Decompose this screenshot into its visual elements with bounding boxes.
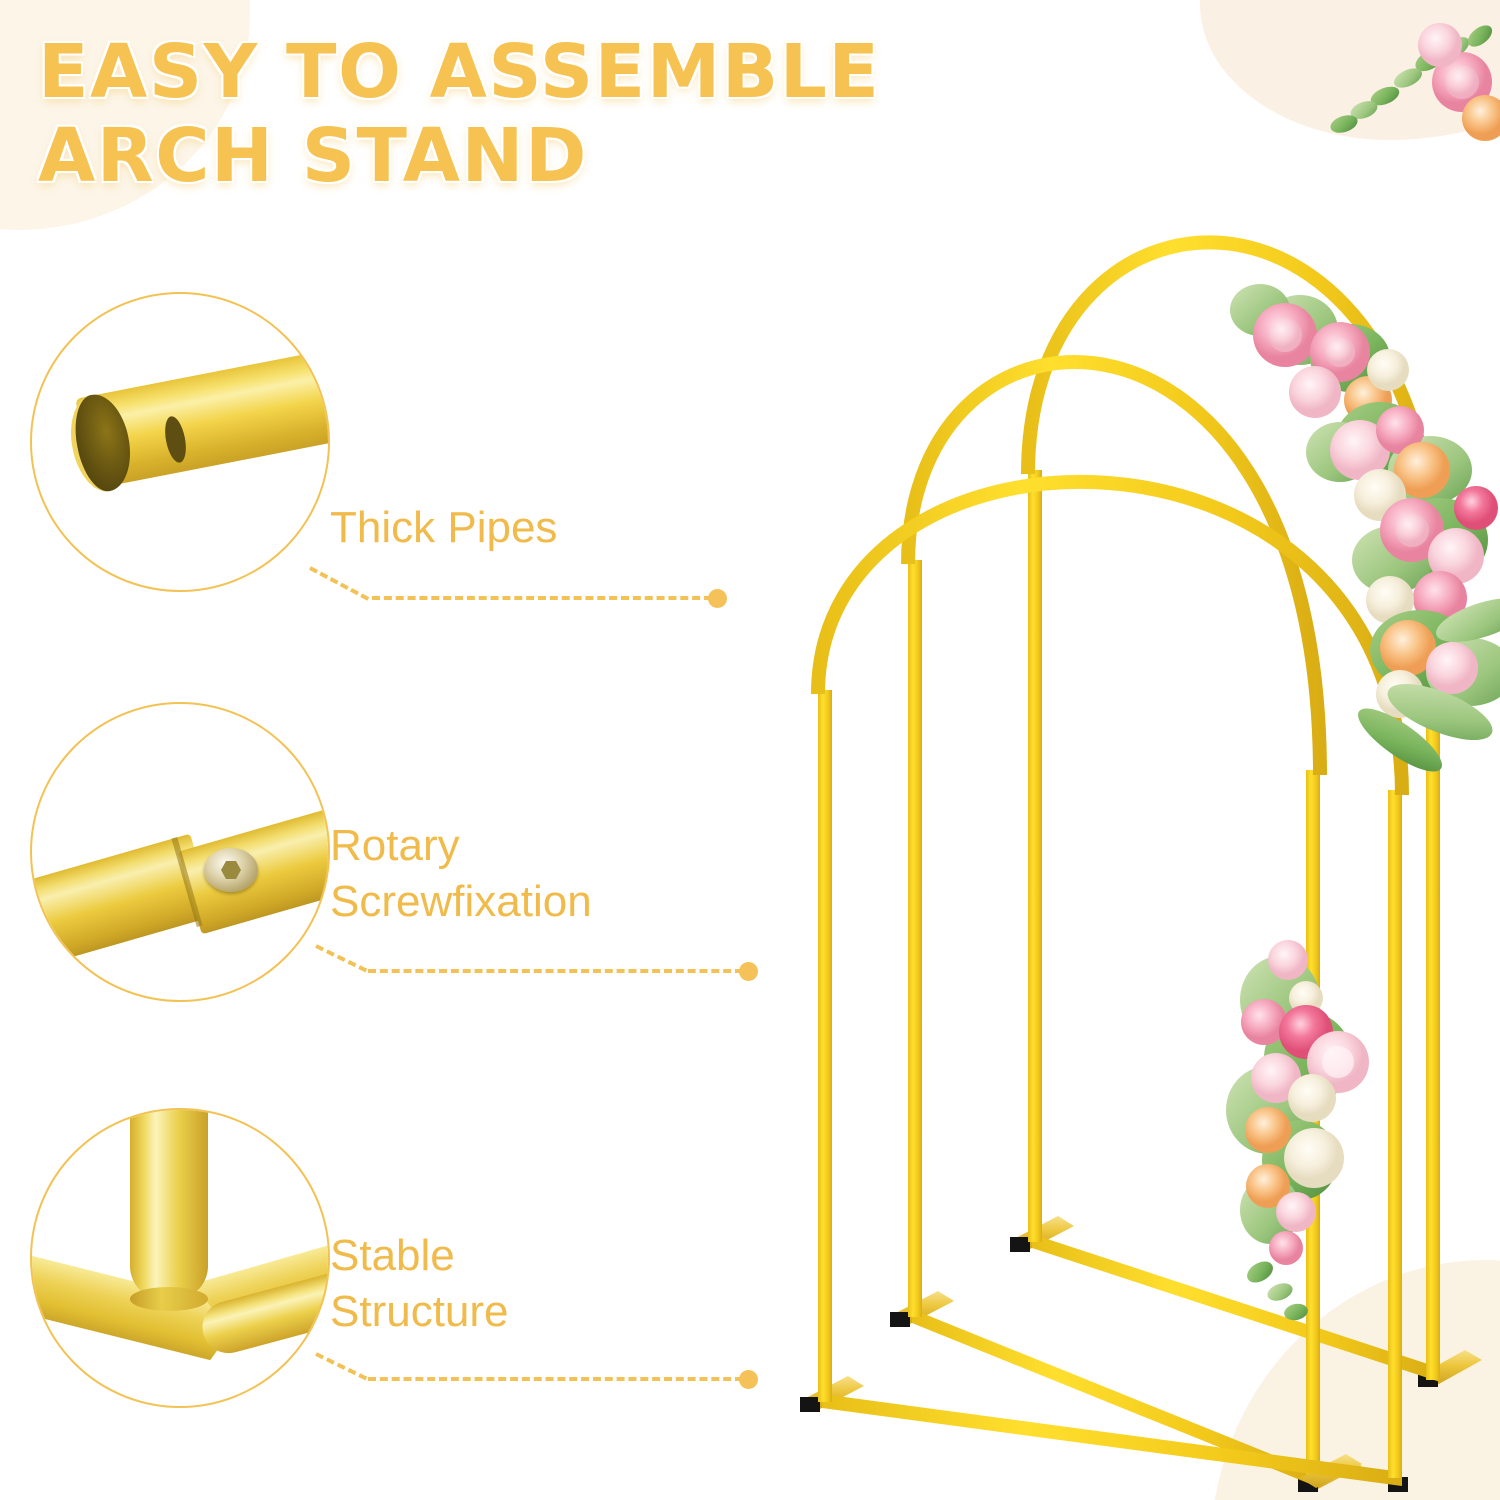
leader-line-stable-structure <box>368 1377 743 1381</box>
feature-label-rotary-screwfixation-line-1: Rotary <box>330 818 592 874</box>
page-title-line-1: EASY TO ASSEMBLE <box>38 30 938 114</box>
feature-photo-circle-thick-pipes <box>30 292 330 592</box>
page-title: EASY TO ASSEMBLE ARCH STAND <box>38 30 938 198</box>
base-vertical-post-shape <box>130 1108 208 1300</box>
feature-label-thick-pipes-line-1: Thick Pipes <box>330 500 557 556</box>
infographic-canvas: EASY TO ASSEMBLE ARCH STAND Thick Pipes <box>0 0 1500 1500</box>
feature-label-rotary-screwfixation: Rotary Screwfixation <box>330 818 592 930</box>
feature-label-stable-structure-line-2: Structure <box>330 1284 509 1340</box>
leader-dot-thick-pipes <box>708 589 727 608</box>
pipe-joint-with-hex-screw-photo <box>32 704 328 1000</box>
gold-pipe-open-end-with-hole-photo <box>32 294 328 590</box>
floral-bottom-swag <box>1226 940 1369 1322</box>
hex-screw-icon <box>204 848 258 892</box>
three-nested-gold-arch-stands <box>740 0 1500 1500</box>
feature-photo-circle-stable-structure <box>30 1108 330 1408</box>
feature-photo-circle-rotary-screwfixation <box>30 702 330 1002</box>
page-title-line-2: ARCH STAND <box>38 114 938 198</box>
feature-label-stable-structure: Stable Structure <box>330 1228 509 1340</box>
t-base-junction-photo <box>32 1110 328 1406</box>
feature-label-stable-structure-line-1: Stable <box>330 1228 509 1284</box>
feature-label-thick-pipes: Thick Pipes <box>330 500 557 556</box>
roses-upper <box>1230 23 1500 782</box>
leader-line-thick-pipes <box>372 596 712 600</box>
floral-top-swag <box>1230 21 1500 782</box>
leader-line-rotary-screwfixation <box>368 969 743 973</box>
feature-label-rotary-screwfixation-line-2: Screwfixation <box>330 874 592 930</box>
